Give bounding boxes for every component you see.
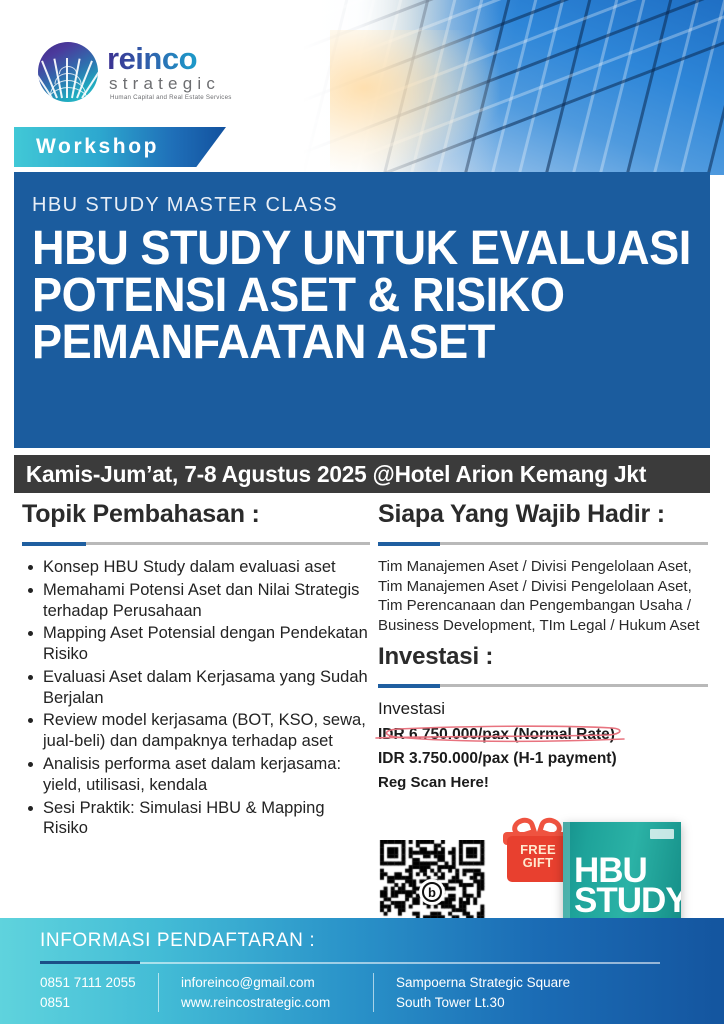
title-block: HBU STUDY MASTER CLASS HBU STUDY UNTUK E… [14,172,710,448]
logo-subword: strategic [109,75,232,92]
brand-logo: reinco strategic Human Capital and Real … [38,42,232,102]
footer-address-1: Sampoerna Strategic Square [396,973,623,993]
price-early-rate: IDR 3.750.000/pax (H-1 payment) [378,750,708,768]
topic-item: Analisis performa aset dalam kerjasama: … [22,754,370,796]
price-normal-rate-text: IDR 6.750.000/pax (Normal Rate) [378,726,615,743]
date-venue-text: Kamis-Jum’at, 7-8 Agustus 2025 @Hotel Ar… [14,461,646,488]
reg-scan-label: Reg Scan Here! [378,774,708,791]
book-title: HBU STUDY [574,856,678,916]
footer-phone-column: 0851 7111 2055 0851 [40,973,158,1012]
title-line-1: HBU STUDY UNTUK EVALUASI [32,225,652,272]
investment-rule [378,684,708,687]
footer-email[interactable]: inforeinco@gmail.com [181,973,373,993]
publisher-badge-icon [650,829,674,839]
audience-rule [378,542,708,545]
logo-wordmark: reinco [107,43,232,74]
footer-website[interactable]: www.reincostrategic.com [181,993,373,1013]
investment-label: Investasi [378,699,708,719]
audience-heading: Siapa Yang Wajib Hadir : [378,500,708,529]
audience-column: Siapa Yang Wajib Hadir : Tim Manajemen A… [378,500,708,791]
topic-item: Mapping Aset Potensial dengan Pendekatan… [22,623,370,665]
audience-text: Tim Manajemen Aset / Divisi Pengelolaan … [378,557,708,635]
title-line-2: POTENSI ASET & RISIKO [32,272,652,319]
topics-heading: Topik Pembahasan : [22,500,370,529]
workshop-banner: Workshop [14,127,226,167]
page-title: HBU STUDY UNTUK EVALUASI POTENSI ASET & … [32,225,652,366]
bitly-logo-icon: b [419,879,445,905]
photo-warm-glow [330,30,500,175]
footer-web-column: inforeinco@gmail.com www.reincostrategic… [158,973,373,1012]
topics-rule [22,542,370,545]
footer-bar: INFORMASI PENDAFTARAN : 0851 7111 2055 0… [0,918,724,1024]
footer-address-2: South Tower Lt.30 [396,993,623,1013]
footer-rule [40,962,660,964]
reinco-logo-icon [38,42,98,102]
workshop-banner-label: Workshop [14,135,159,159]
footer-heading: INFORMASI PENDAFTARAN : [40,930,700,952]
footer-address-column: Sampoerna Strategic Square South Tower L… [373,973,623,1012]
title-line-3: PEMANFAATAN ASET [32,319,652,366]
logo-tagline: Human Capital and Real Estate Services [110,95,232,101]
footer-phone-1: 0851 7111 2055 [40,973,158,993]
topic-item: Konsep HBU Study dalam evaluasi aset [22,557,370,578]
eyebrow-text: HBU STUDY MASTER CLASS [32,194,692,217]
topics-list: Konsep HBU Study dalam evaluasi asetMema… [22,557,370,839]
investment-heading: Investasi : [378,643,708,671]
date-venue-bar: Kamis-Jum’at, 7-8 Agustus 2025 @Hotel Ar… [14,455,710,493]
price-normal-rate: IDR 6.750.000/pax (Normal Rate) [378,726,708,744]
topic-item: Evaluasi Aset dalam Kerjasama yang Sudah… [22,667,370,709]
topics-column: Topik Pembahasan : Konsep HBU Study dala… [22,500,370,841]
topic-item: Memahami Potensi Aset dan Nilai Strategi… [22,580,370,622]
topic-item: Sesi Praktik: Simulasi HBU & Mapping Ris… [22,798,370,840]
topic-item: Review model kerjasama (BOT, KSO, sewa, … [22,710,370,752]
footer-phone-2: 0851 [40,993,158,1013]
price-early-rate-text: IDR 3.750.000/pax (H-1 payment) [378,750,617,767]
poster-root: reinco strategic Human Capital and Real … [0,0,724,1024]
book-title-line-2: STUDY [574,886,678,916]
